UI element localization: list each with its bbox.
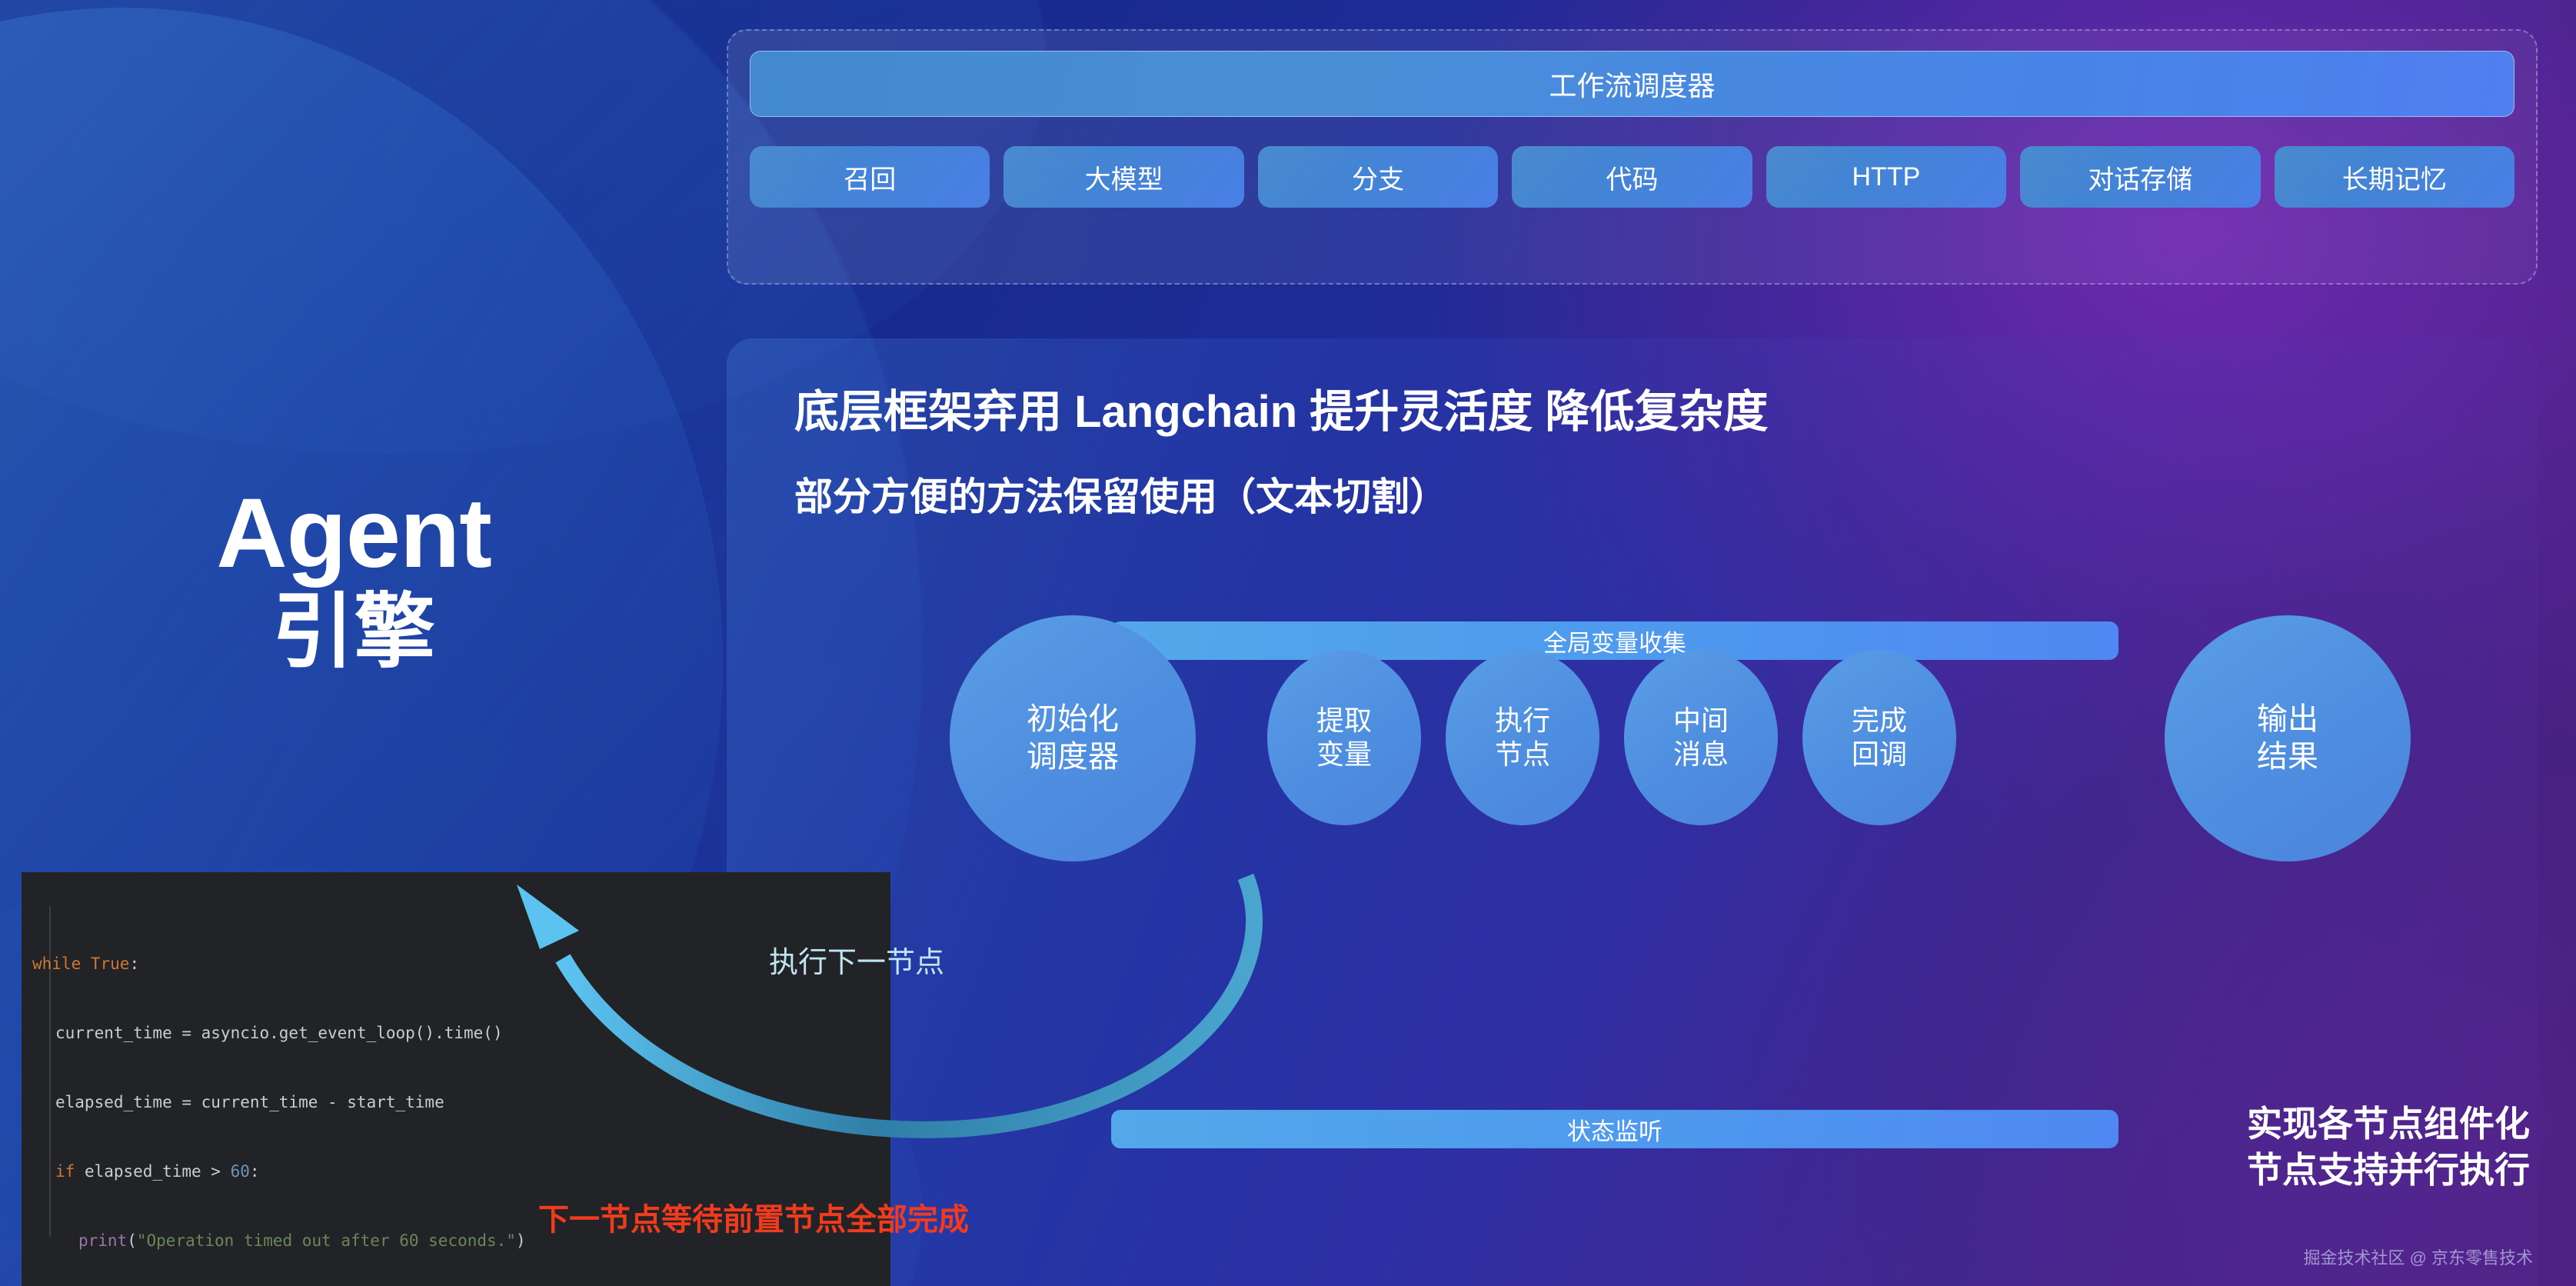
node-extract-variable[interactable]: 提取 变量 [1267, 650, 1421, 825]
chip-llm[interactable]: 大模型 [1003, 146, 1243, 208]
node-intermediate-message-line1: 中间 [1673, 704, 1729, 738]
node-output-result[interactable]: 输出 结果 [2165, 615, 2411, 861]
code-token-true: True [91, 955, 130, 973]
scheduler-bar: 工作流调度器 [750, 51, 2514, 117]
chip-code[interactable]: 代码 [1512, 146, 1752, 208]
code-line-4: if elapsed_time > 60: [22, 1160, 890, 1183]
capability-chip-row: 召回 大模型 分支 代码 HTTP 对话存储 长期记忆 [750, 146, 2514, 208]
node-execute-node-line1: 执行 [1495, 704, 1550, 738]
node-intermediate-message-line2: 消息 [1673, 738, 1729, 771]
code-line-1: while True: [22, 952, 890, 975]
bottom-right-line1: 实现各节点组件化 [2247, 1101, 2530, 1148]
band-global-variable-collection: 全局变量收集 [1111, 621, 2118, 660]
code-line-2: current_time = asyncio.get_event_loop().… [22, 1021, 890, 1044]
workflow-panel: 工作流调度器 召回 大模型 分支 代码 HTTP 对话存储 长期记忆 [727, 29, 2538, 285]
chip-conversation-storage[interactable]: 对话存储 [2020, 146, 2260, 208]
arrow-label-next-node: 执行下一节点 [769, 938, 944, 981]
node-extract-variable-line1: 提取 [1316, 704, 1372, 738]
left-title-block: Agent 引擎 [0, 485, 707, 680]
code-indent-guide [49, 906, 51, 1237]
node-complete-callback-line1: 完成 [1852, 704, 1907, 738]
bottom-right-line2: 节点支持并行执行 [2247, 1147, 2530, 1194]
red-annotation: 下一节点等待前置节点全部完成 [538, 1194, 969, 1239]
code-line-3: elapsed_time = current_time - start_time [22, 1091, 890, 1114]
slide-root: Agent 引擎 工作流调度器 召回 大模型 分支 代码 HTTP 对话存储 长… [0, 0, 2576, 1286]
node-execute-node[interactable]: 执行 节点 [1446, 650, 1599, 825]
code-token-while: while [32, 955, 81, 973]
title-en: Agent [0, 485, 707, 583]
node-intermediate-message[interactable]: 中间 消息 [1624, 650, 1778, 825]
chip-branch[interactable]: 分支 [1258, 146, 1498, 208]
node-output-result-line2: 结果 [2257, 738, 2318, 776]
node-execute-node-line2: 节点 [1495, 738, 1550, 771]
chip-recall[interactable]: 召回 [750, 146, 990, 208]
node-init-scheduler-line1: 初始化 [1027, 701, 1119, 738]
code-token-colon-1: : [129, 955, 139, 973]
node-extract-variable-line2: 变量 [1316, 738, 1372, 771]
chip-http[interactable]: HTTP [1766, 146, 2006, 208]
node-init-scheduler-line2: 调度器 [1027, 738, 1119, 776]
node-complete-callback[interactable]: 完成 回调 [1802, 650, 1956, 825]
title-cn: 引擎 [0, 586, 707, 680]
band-state-listening: 状态监听 [1111, 1110, 2118, 1148]
chip-long-term-memory[interactable]: 长期记忆 [2275, 146, 2514, 208]
bottom-right-callout: 实现各节点组件化 节点支持并行执行 [2247, 1101, 2530, 1194]
node-init-scheduler[interactable]: 初始化 调度器 [950, 615, 1196, 861]
node-output-result-line1: 输出 [2257, 701, 2318, 738]
watermark: 掘金技术社区 @ 京东零售技术 [2303, 1244, 2533, 1269]
node-complete-callback-line2: 回调 [1852, 738, 1907, 771]
